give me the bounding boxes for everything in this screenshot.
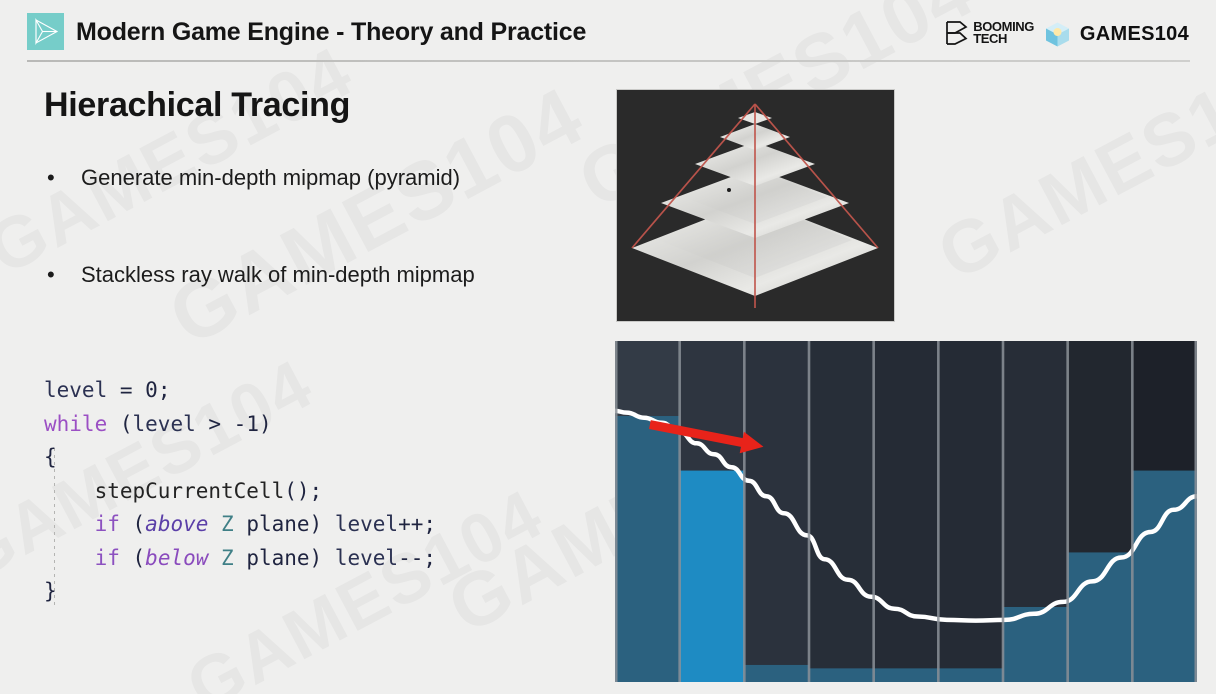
code-token: ( <box>120 546 145 570</box>
code-line: if (above Z plane) level++; <box>44 508 436 542</box>
watermark: GAMES104 <box>924 29 1216 297</box>
chart-bar <box>809 668 874 682</box>
code-token: } <box>44 579 57 603</box>
code-line: stepCurrentCell(); <box>44 475 436 509</box>
header-divider <box>27 60 1190 62</box>
bullet-marker-icon: • <box>44 163 81 193</box>
code-token: Z <box>221 546 234 570</box>
code-token: below <box>145 546 208 570</box>
slide-header: Modern Game Engine - Theory and Practice… <box>0 0 1216 62</box>
code-token: above <box>145 512 208 536</box>
chart-canvas <box>615 341 1197 682</box>
chart-bar <box>1068 552 1133 682</box>
code-token: level <box>44 378 107 402</box>
chart-bar <box>744 665 809 682</box>
code-token: Z <box>221 512 234 536</box>
chart-bar <box>680 471 745 682</box>
code-token: ) <box>259 412 272 436</box>
list-item: • Stackless ray walk of min-depth mipmap <box>44 260 604 290</box>
code-token: > <box>196 412 234 436</box>
code-token: ++; <box>398 512 436 536</box>
code-token: if <box>95 546 120 570</box>
code-token: 0 <box>145 378 158 402</box>
chart-cell-bg <box>809 341 874 682</box>
bullet-text: Stackless ray walk of min-depth mipmap <box>81 260 475 290</box>
slide-root: GAMES104 GAMES104 GAMES104 GAMES104 GAME… <box>0 0 1216 694</box>
code-token: plane) <box>234 546 335 570</box>
booming-tech-logo: BOOMING TECH <box>945 20 1034 46</box>
code-token <box>44 512 95 536</box>
chart-bar <box>874 668 939 682</box>
code-line: while (level > -1) <box>44 408 436 442</box>
slide-title: Hierachical Tracing <box>44 86 350 125</box>
chart-cell-bg <box>938 341 1003 682</box>
code-token: = <box>107 378 145 402</box>
code-token: -1 <box>234 412 259 436</box>
bullet-list: • Generate min-depth mipmap (pyramid) • … <box>44 163 604 357</box>
code-token: { <box>44 445 57 469</box>
page-title: Modern Game Engine - Theory and Practice <box>76 18 586 47</box>
booming-line-2: TECH <box>973 33 1034 45</box>
code-token: ( <box>107 412 132 436</box>
chart-bar <box>615 416 680 682</box>
code-line: } <box>44 575 436 609</box>
code-token <box>208 546 221 570</box>
bullet-text: Generate min-depth mipmap (pyramid) <box>81 163 460 193</box>
code-token: level <box>335 546 398 570</box>
booming-tech-wordmark: BOOMING TECH <box>973 21 1034 45</box>
paper-plane-wireframe-icon <box>27 13 64 50</box>
booming-tech-b-icon <box>945 20 969 46</box>
code-line: if (below Z plane) level--; <box>44 542 436 576</box>
code-token: level <box>133 412 196 436</box>
bullet-marker-icon: • <box>44 260 81 290</box>
list-item: • Generate min-depth mipmap (pyramid) <box>44 163 604 193</box>
chart-cell-bg <box>874 341 939 682</box>
games104-cube-icon <box>1044 21 1071 48</box>
chart-bar <box>938 668 1003 682</box>
hiz-cell-chart <box>615 341 1197 682</box>
code-token: level <box>335 512 398 536</box>
code-token: plane) <box>234 512 335 536</box>
mipmap-pyramid-figure <box>616 89 895 322</box>
code-token: --; <box>398 546 436 570</box>
code-token: stepCurrentCell <box>44 479 284 503</box>
code-token: ; <box>158 378 171 402</box>
games104-logo: GAMES104 <box>1044 21 1189 48</box>
code-snippet: level = 0;while (level > -1){ stepCurren… <box>44 374 436 609</box>
code-token: ( <box>120 512 145 536</box>
code-token: (); <box>284 479 322 503</box>
code-line: { <box>44 441 436 475</box>
code-token: while <box>44 412 107 436</box>
code-token <box>208 512 221 536</box>
code-token: if <box>95 512 120 536</box>
code-line: level = 0; <box>44 374 436 408</box>
code-token <box>44 546 95 570</box>
games104-wordmark: GAMES104 <box>1080 23 1189 46</box>
